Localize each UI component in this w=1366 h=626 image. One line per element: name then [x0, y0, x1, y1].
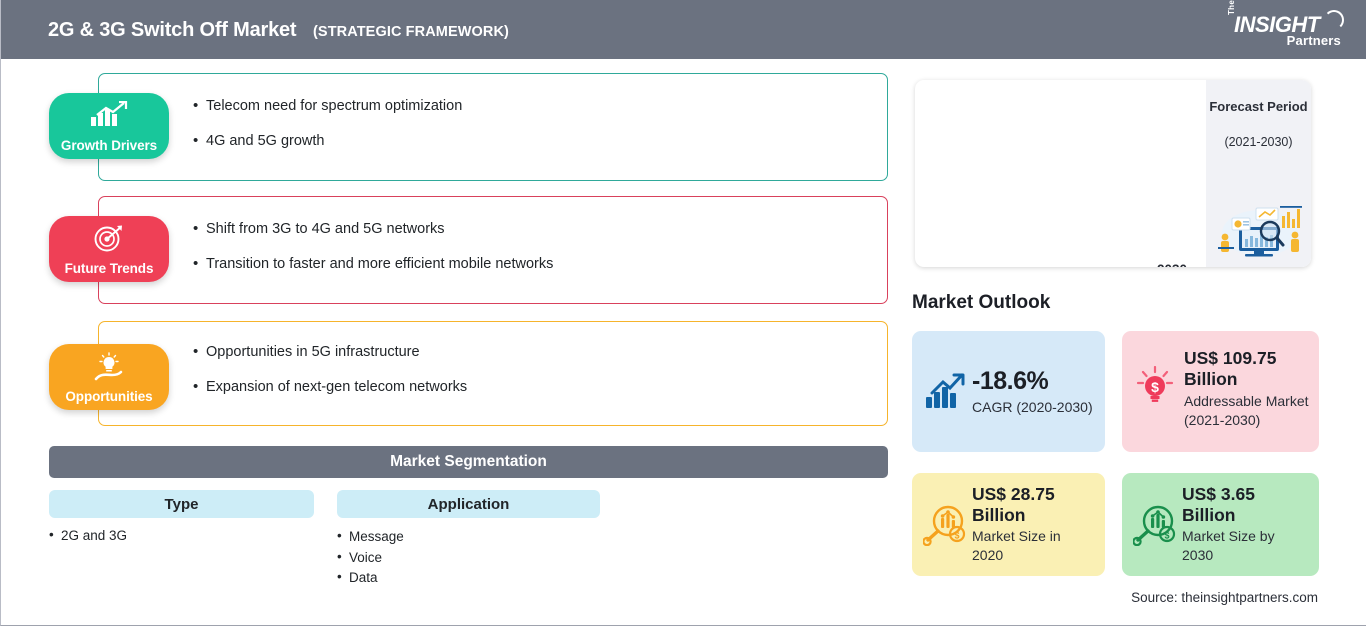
segmentation-column-type-list: 2G and 3G	[49, 526, 127, 547]
forecast-timeline-card: Forecast Period (2021-2030)	[915, 80, 1311, 267]
page-title: 2G & 3G Switch Off Market	[48, 19, 296, 42]
badge-label: Future Trends	[65, 261, 154, 276]
list-item: 2G and 3G	[49, 526, 127, 547]
market-segmentation-header: Market Segmentation	[49, 446, 888, 478]
source-attribution: Source: theinsightpartners.com	[1131, 590, 1318, 605]
bullet-item: Shift from 3G to 4G and 5G networks	[193, 218, 553, 240]
outlook-card-text: US$ 28.75 Billion Market Size in 2020	[968, 484, 1095, 565]
segmentation-column-type-header: Type	[49, 490, 314, 518]
page-header: 2G & 3G Switch Off Market (STRATEGIC FRA…	[1, 0, 1366, 59]
badge-opportunities[interactable]: Opportunities	[49, 344, 169, 410]
analytics-team-illustration	[1212, 197, 1305, 259]
list-item: Message	[337, 527, 404, 548]
segmentation-column-application-header: Application	[337, 490, 600, 518]
badge-future-trends[interactable]: Future Trends	[49, 216, 169, 282]
outlook-card-addressable-market[interactable]: $ US$ 109.75 Billion Addressable Market …	[1122, 331, 1319, 452]
outlook-card-sub: Addressable Market (2021-2030)	[1184, 392, 1309, 430]
list-item: Data	[337, 568, 404, 589]
outlook-card-text: US$ 3.65 Billion Market Size by 2030	[1178, 484, 1309, 565]
forecast-period-title: Forecast Period	[1206, 98, 1311, 116]
page-subtitle: (STRATEGIC FRAMEWORK)	[313, 24, 509, 40]
segmentation-column-application-list: Message Voice Data	[337, 527, 404, 589]
magnifier-chart-dollar-icon: $	[1132, 504, 1178, 546]
timeline-year: 2030	[1139, 262, 1205, 267]
badge-label: Opportunities	[65, 389, 152, 404]
lightbulb-hand-icon	[89, 352, 129, 387]
target-dartboard-icon	[92, 224, 126, 257]
infographic-page: 2G & 3G Switch Off Market (STRATEGIC FRA…	[0, 0, 1366, 626]
magnifier-chart-dollar-icon: $	[922, 504, 968, 546]
panel-growth-drivers-bullets: Telecom need for spectrum optimization 4…	[193, 95, 462, 166]
outlook-card-value: -18.6%	[972, 366, 1095, 397]
badge-label: Growth Drivers	[61, 138, 157, 153]
outlook-card-value: US$ 3.65 Billion	[1182, 484, 1309, 527]
outlook-card-cagr[interactable]: -18.6% CAGR (2020-2030)	[912, 331, 1105, 452]
panel-opportunities-bullets: Opportunities in 5G infrastructure Expan…	[193, 341, 467, 412]
bullet-item: Expansion of next-gen telecom networks	[193, 376, 467, 398]
bar-chart-growth-icon	[89, 101, 129, 132]
bullet-item: Opportunities in 5G infrastructure	[193, 341, 467, 363]
outlook-card-text: -18.6% CAGR (2020-2030)	[968, 366, 1095, 416]
outlook-card-sub: CAGR (2020-2030)	[972, 398, 1095, 417]
badge-growth-drivers[interactable]: Growth Drivers	[49, 93, 169, 159]
panel-future-trends-bullets: Shift from 3G to 4G and 5G networks Tran…	[193, 218, 553, 289]
outlook-card-sub: Market Size by 2030	[1182, 527, 1309, 565]
outlook-card-market-size-2020[interactable]: $ US$ 28.75 Billion Market Size in 2020	[912, 473, 1105, 576]
svg-text:$: $	[954, 530, 959, 540]
bullet-item: Transition to faster and more efficient …	[193, 253, 553, 275]
bullet-item: Telecom need for spectrum optimization	[193, 95, 462, 117]
forecast-period-pane: Forecast Period (2021-2030)	[1206, 80, 1311, 267]
insight-partners-logo[interactable]: The INSIGHT Partners	[1225, 9, 1347, 51]
logo-partners-text: Partners	[1287, 33, 1341, 48]
lightbulb-dollar-icon: $	[1132, 366, 1178, 406]
chart-arrow-up-icon	[922, 373, 968, 411]
svg-text:$: $	[1164, 530, 1169, 540]
forecast-period-range: (2021-2030)	[1206, 135, 1311, 149]
market-outlook-title: Market Outlook	[912, 292, 1050, 314]
bullet-item: 4G and 5G growth	[193, 130, 462, 152]
outlook-card-value: US$ 109.75 Billion	[1184, 348, 1309, 391]
outlook-card-value: US$ 28.75 Billion	[972, 484, 1095, 527]
logo-arc-icon	[1324, 10, 1344, 30]
outlook-card-market-size-2030[interactable]: $ US$ 3.65 Billion Market Size by 2030	[1122, 473, 1319, 576]
list-item: Voice	[337, 548, 404, 569]
svg-text:$: $	[1151, 379, 1159, 395]
outlook-card-text: US$ 109.75 Billion Addressable Market (2…	[1178, 348, 1309, 429]
outlook-card-sub: Market Size in 2020	[972, 527, 1095, 565]
